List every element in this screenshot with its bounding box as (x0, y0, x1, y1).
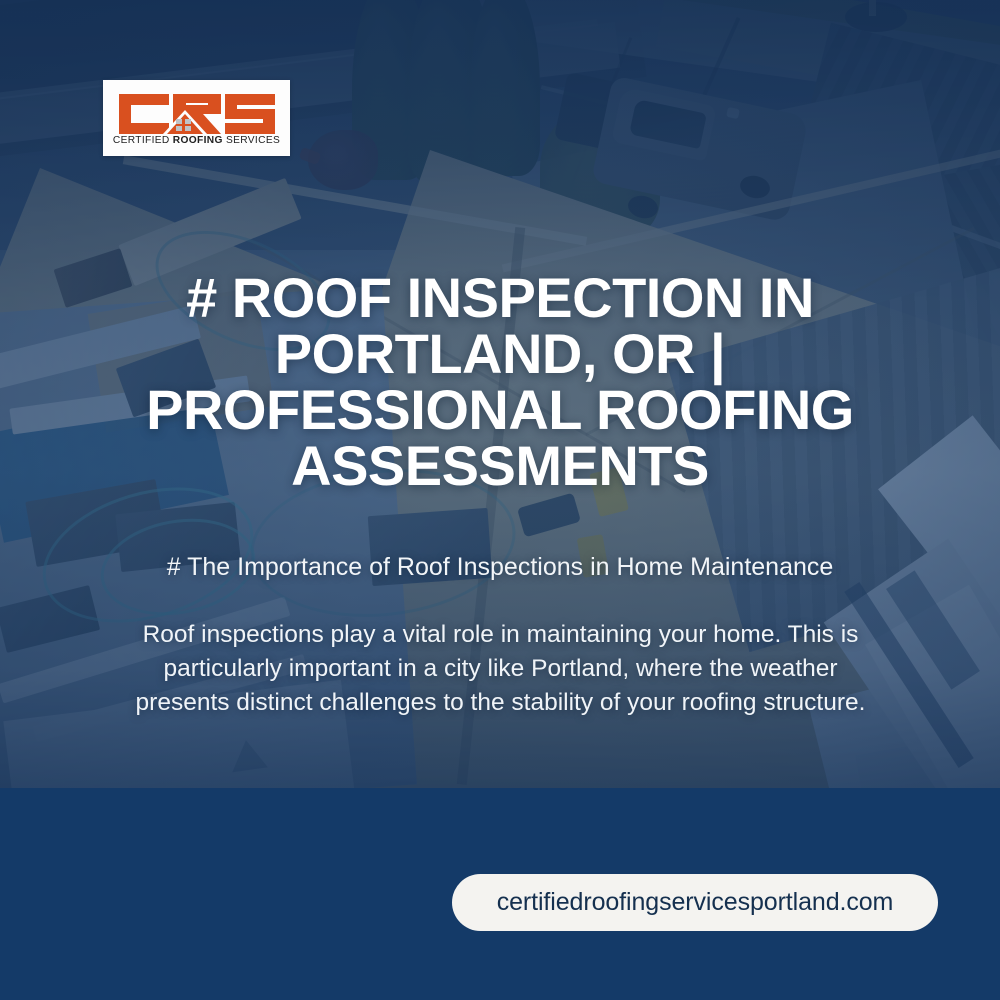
website-url-text: certifiedroofingservicesportland.com (497, 888, 894, 917)
page-title: # Roof Inspection in Portland, OR | Prof… (110, 270, 890, 494)
social-graphic-canvas: CERTIFIED ROOFING SERVICES # Roof Inspec… (0, 0, 1000, 1000)
page-body-text: Roof inspections play a vital role in ma… (118, 618, 883, 720)
page-subtitle: # The Importance of Roof Inspections in … (90, 550, 910, 584)
hero-content: # Roof Inspection in Portland, OR | Prof… (0, 0, 1000, 788)
website-url-pill[interactable]: certifiedroofingservicesportland.com (452, 874, 938, 931)
